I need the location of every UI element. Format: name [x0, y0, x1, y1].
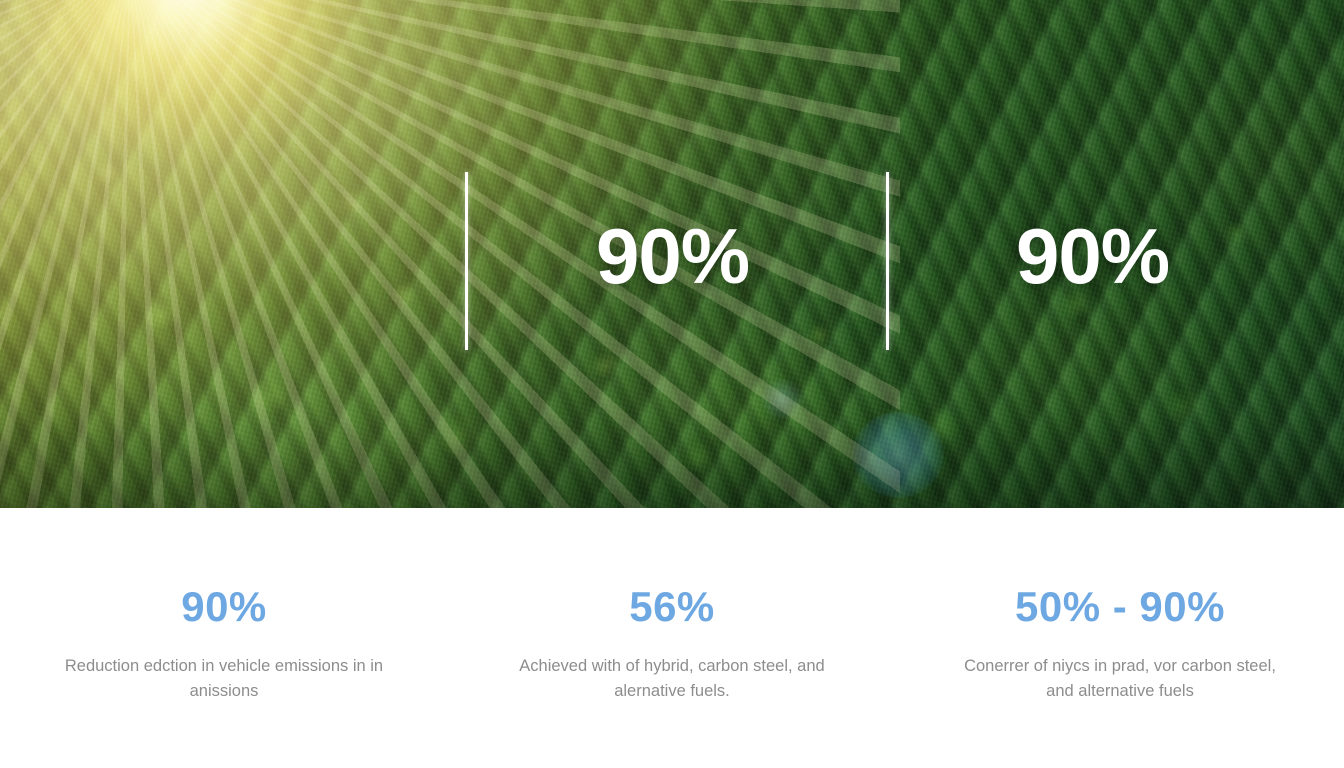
stat-column-2: 56% Achieved with of hybrid, carbon stee… [448, 586, 896, 704]
hero-stat-value-2: 90% [1016, 217, 1169, 295]
stat-description-1: Reduction edction in vehicle emissions i… [59, 654, 389, 704]
stat-value-2: 56% [629, 586, 715, 628]
hero-divider-1 [465, 172, 468, 350]
hero-divider-2 [886, 172, 889, 350]
hero-stat-group: 90% 90% [0, 0, 1344, 508]
stat-column-3: 50% - 90% Conerrer of niycs in prad, vor… [896, 586, 1344, 704]
hero-stat-value-1: 90% [596, 217, 749, 295]
stat-description-3: Conerrer of niycs in prad, vor carbon st… [955, 654, 1285, 704]
hero-banner: 90% 90% [0, 0, 1344, 508]
stat-description-2: Achieved with of hybrid, carbon steel, a… [507, 654, 837, 704]
stat-value-1: 90% [181, 586, 267, 628]
slide-root: 90% 90% 90% Reduction edction in vehicle… [0, 0, 1344, 768]
stats-strip: 90% Reduction edction in vehicle emissio… [0, 508, 1344, 768]
stat-value-3: 50% - 90% [1015, 586, 1225, 628]
stat-column-1: 90% Reduction edction in vehicle emissio… [0, 586, 448, 704]
